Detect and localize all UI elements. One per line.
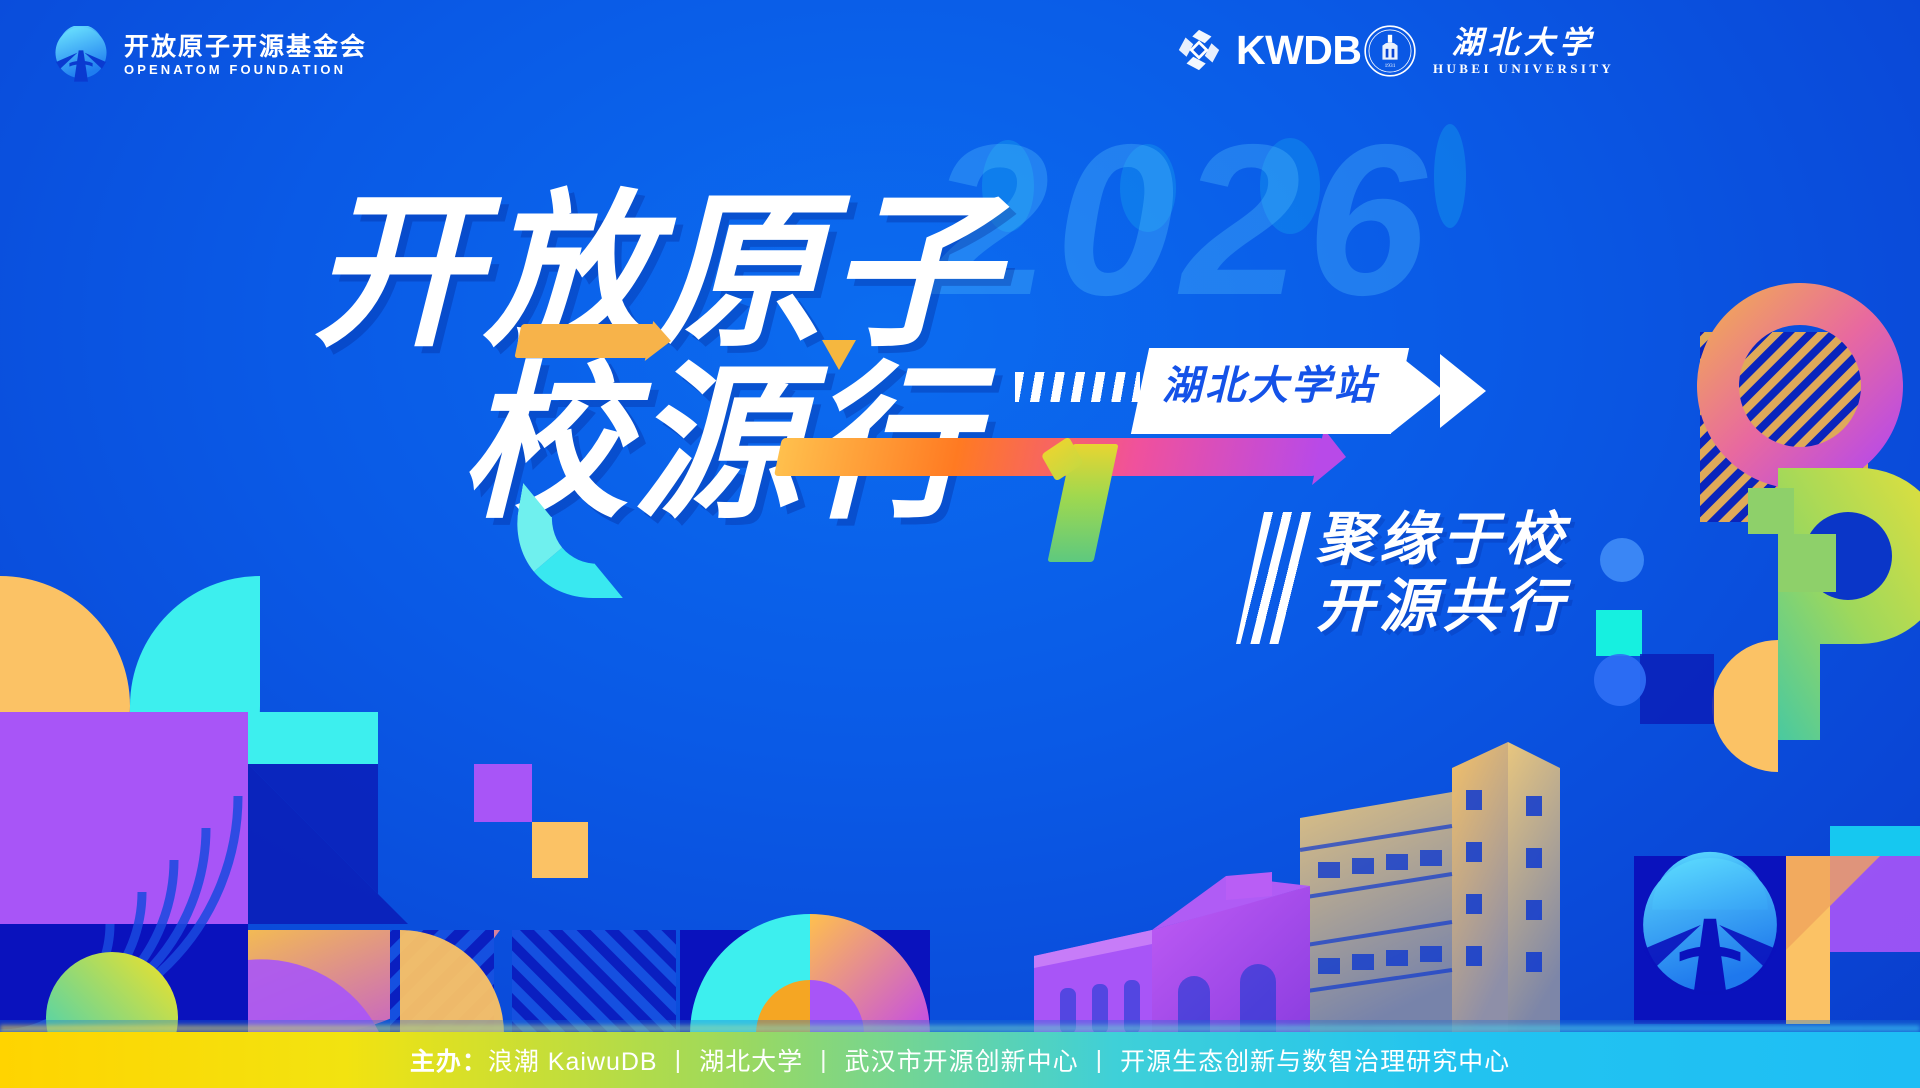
yellow-triangle-accent bbox=[822, 340, 856, 370]
openatom-logo-text: 开放原子开源基金会 OPENATOM FOUNDATION bbox=[124, 35, 367, 76]
hubei-university-logo: 1931 湖北大学 HUBEI UNIVERSITY bbox=[1363, 24, 1614, 78]
footer-host-bar: 主办： 浪潮 KaiwuDB | 湖北大学 | 武汉市开源创新中心 | 开源生态… bbox=[0, 1032, 1920, 1088]
kwdb-wordmark: KWDB bbox=[1236, 30, 1362, 71]
poster-canvas: 2026 开放原子开源基金会 OP bbox=[0, 0, 1920, 1088]
host-item: 浪潮 KaiwuDB bbox=[488, 1042, 658, 1078]
yellow-half-circle-right bbox=[1712, 640, 1778, 772]
badge-arrow-inner-icon bbox=[1440, 354, 1486, 428]
navy-square-small bbox=[1640, 654, 1714, 724]
campus-buildings-illustration bbox=[1034, 742, 1560, 1034]
purple-square bbox=[0, 712, 248, 924]
host-item: 湖北大学 bbox=[699, 1042, 803, 1078]
badge-hatch-lines bbox=[1015, 372, 1140, 402]
host-item: 开源生态创新与数智治理研究中心 bbox=[1120, 1042, 1510, 1078]
cyan-accent-stroke bbox=[503, 483, 643, 598]
kwdb-logo: KWDB bbox=[1175, 26, 1362, 74]
diag-stripes-b bbox=[512, 930, 676, 1034]
kwdb-cube-icon bbox=[1175, 26, 1223, 74]
concentric-arcs bbox=[0, 796, 248, 1034]
host-separator: | bbox=[1079, 1046, 1121, 1075]
gradient-ring bbox=[1718, 304, 1882, 468]
cyan-square-small bbox=[1596, 610, 1642, 656]
openatom-dome-icon bbox=[52, 26, 110, 84]
host-separator: | bbox=[803, 1046, 845, 1075]
host-item: 武汉市开源创新中心 bbox=[845, 1042, 1079, 1078]
logo-header: 开放原子开源基金会 OPENATOM FOUNDATION KWDB bbox=[0, 0, 1920, 108]
openatom-dome-decoration bbox=[1634, 826, 1920, 1024]
host-separator: | bbox=[658, 1046, 700, 1075]
hubei-university-seal-icon: 1931 bbox=[1363, 24, 1417, 78]
green-square-b bbox=[1778, 534, 1836, 592]
slogan-line-2: 开源共行 bbox=[1316, 573, 1568, 640]
hubei-name-cn: 湖北大学 bbox=[1452, 27, 1596, 58]
cyan-bar bbox=[248, 712, 378, 764]
orange-accent-stroke bbox=[514, 324, 654, 358]
openatom-foundation-logo: 开放原子开源基金会 OPENATOM FOUNDATION bbox=[52, 26, 367, 84]
yellow-half-circle bbox=[400, 930, 504, 1034]
hatched-square bbox=[1700, 332, 1868, 522]
station-badge-label: 湖北大学站 bbox=[1162, 366, 1422, 406]
center-semicircles bbox=[680, 914, 930, 1034]
slogan-lines: 聚缘于校 开源共行 bbox=[1316, 506, 1568, 641]
blue-dot bbox=[1600, 538, 1644, 582]
footer-glow bbox=[0, 1025, 1920, 1032]
small-yellow-square bbox=[532, 822, 588, 878]
diag-stripes-a bbox=[390, 930, 494, 1034]
small-purple-square bbox=[474, 764, 532, 822]
footer-host-label: 主办： bbox=[410, 1042, 488, 1078]
svg-text:1931: 1931 bbox=[1385, 63, 1396, 69]
station-badge: 湖北大学站 bbox=[1140, 348, 1540, 434]
openatom-name-en: OPENATOM FOUNDATION bbox=[124, 63, 367, 76]
leaf-pair-shape bbox=[0, 576, 260, 836]
p-letter-shape bbox=[1778, 468, 1920, 740]
hubei-university-wordmark: 湖北大学 HUBEI UNIVERSITY bbox=[1433, 27, 1614, 75]
green-square-a bbox=[1748, 488, 1794, 534]
hubei-name-en: HUBEI UNIVERSITY bbox=[1433, 62, 1614, 75]
slogan-line-1: 聚缘于校 bbox=[1316, 506, 1568, 573]
footer-host-list: 主办： 浪潮 KaiwuDB | 湖北大学 | 武汉市开源创新中心 | 开源生态… bbox=[410, 1042, 1510, 1078]
openatom-name-cn: 开放原子开源基金会 bbox=[124, 35, 367, 60]
green-accent-stroke bbox=[1047, 444, 1118, 562]
